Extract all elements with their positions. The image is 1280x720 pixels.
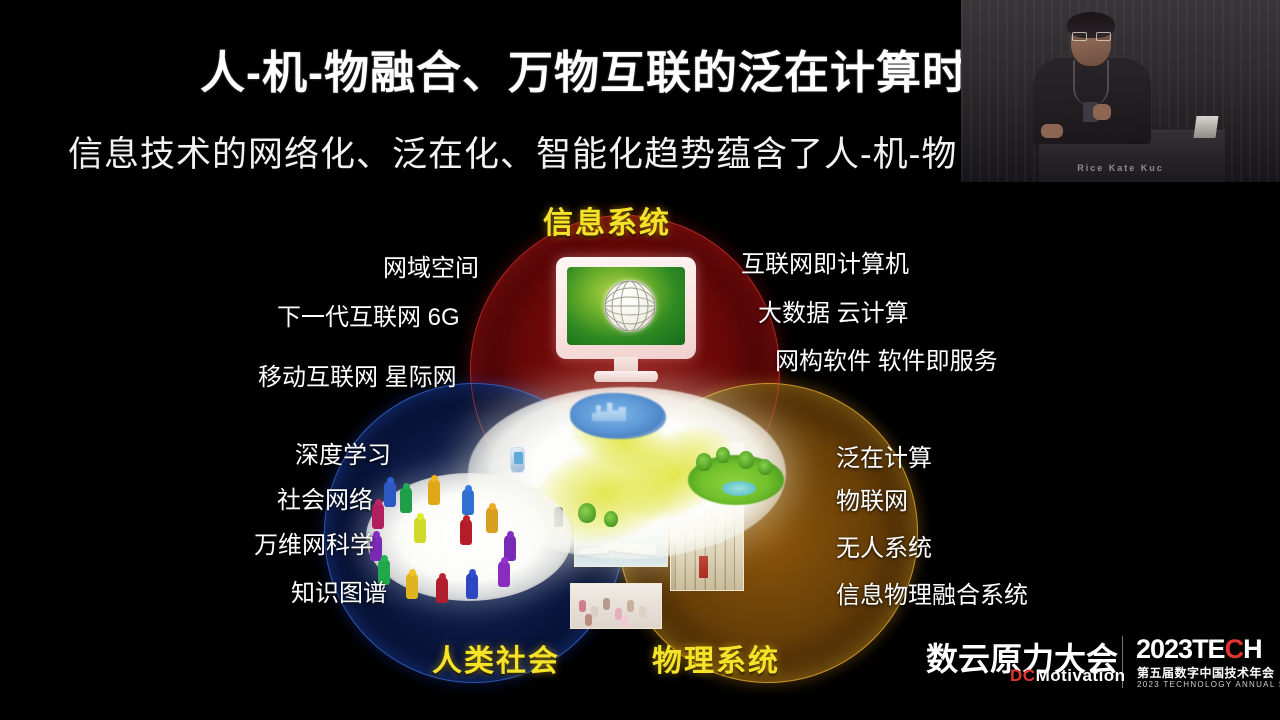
city-skyline-icon [570,393,666,439]
keyword-physical-4: 信息物理融合系统 [836,575,1028,610]
lanyard [1073,60,1109,106]
pond-shape [722,481,756,496]
keyword-society-4: 知识图谱 [291,573,387,608]
slide-title: 人-机-物融合、万物互联的泛在计算时代 [200,36,1014,101]
logo-brand-en: DCMotivation [1010,666,1126,686]
logo-swoosh-icon: C [1225,634,1244,664]
glasses-icon [1072,32,1111,41]
keyword-info-left-3: 移动互联网 星际网 [258,357,457,392]
logo-brand-en-prefix: DC [1010,666,1036,685]
speaker-hand [1093,104,1111,120]
logo-year-tail: H [1243,634,1262,664]
keyword-info-left-2: 下一代互联网 6G [277,297,460,332]
logo-divider [1122,636,1123,688]
keyword-info-right-2: 大数据 云计算 [758,293,909,328]
logo-year-main: 2023TE [1136,634,1225,664]
logo-year: 2023TECH [1136,634,1262,665]
keyword-society-3: 万维网科学 [254,525,374,560]
tree-icon [604,511,618,527]
presentation-slide: 人-机-物融合、万物互联的泛在计算时代 信息技术的网络化、泛在化、智能化趋势蕴含… [0,0,1280,720]
keyword-physical-3: 无人系统 [836,528,932,563]
keyword-info-right-1: 互联网即计算机 [741,244,909,279]
keyword-society-2: 社会网络 [277,480,373,515]
keyword-physical-1: 泛在计算 [836,438,932,473]
laptop [1193,116,1218,138]
tree-icon [578,503,596,523]
video-caption: Rice Kate Kuc [961,163,1280,173]
tree-icon [738,451,754,469]
label-information-system: 信息系统 [543,198,671,242]
mobile-phone-icon [510,447,525,473]
people-network-icon [366,473,572,601]
logo-subtitle-cn: 第五届数字中国技术年会 [1137,664,1275,681]
speaker-hand [1041,124,1063,138]
label-physical-system: 物理系统 [652,636,780,680]
speaker-video-overlay[interactable]: Rice Kate Kuc [961,0,1280,182]
tree-icon [696,453,712,471]
tree-icon [716,447,730,463]
crowd-photo [570,583,662,629]
keyword-society-1: 深度学习 [295,435,391,470]
tree-icon [758,459,772,475]
logo-brand-en-suffix: Motivation [1036,666,1126,685]
monitor-globe-icon [556,257,696,385]
label-human-society: 人类社会 [432,636,560,680]
logo-subtitle-en: 2023 TECHNOLOGY ANNUAL SUMMIT [1137,680,1280,689]
keyword-info-right-3: 网构软件 软件即服务 [775,341,998,376]
keyword-physical-2: 物联网 [836,481,908,516]
slide-subtitle: 信息技术的网络化、泛在化、智能化趋势蕴含了人-机-物 [68,126,957,177]
keyword-info-left-1: 网域空间 [383,248,479,283]
